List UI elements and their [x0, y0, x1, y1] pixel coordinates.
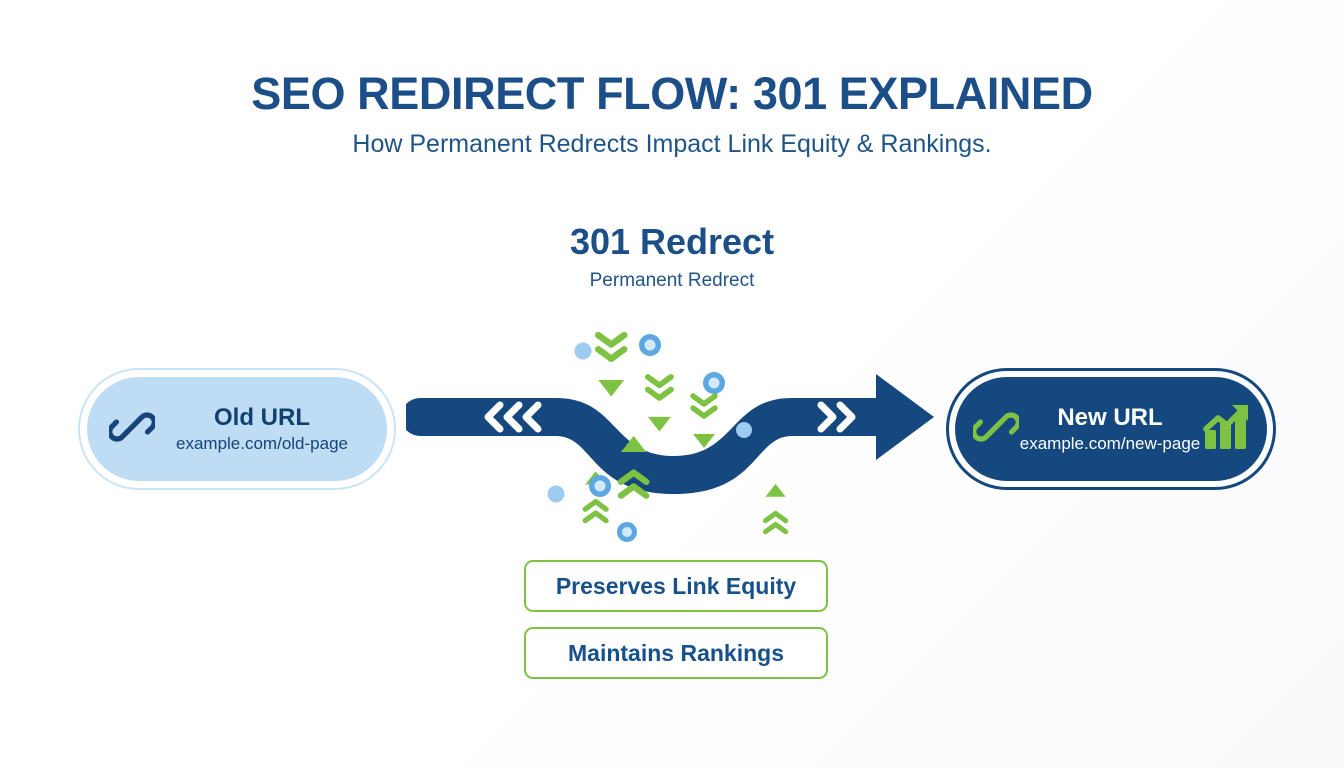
old-url-card[interactable]: Old URL example.com/old-page [78, 368, 396, 490]
new-url-card[interactable]: New URL example.com/new-page [946, 368, 1276, 490]
old-url-card-inner: Old URL example.com/old-page [87, 377, 387, 481]
redirect-type-label: Permanent Redrect [0, 271, 1344, 292]
blue-dot [575, 343, 592, 360]
redirect-code-title: 301 Redrect [0, 222, 1344, 262]
infographic-canvas: SEO REDIRECT FLOW: 301 EXPLAINED How Per… [0, 0, 1344, 768]
new-url-text: New URL example.com/new-page [1019, 405, 1201, 454]
badge-maintains-rankings[interactable]: Maintains Rankings [524, 627, 828, 679]
header: SEO REDIRECT FLOW: 301 EXPLAINED How Per… [0, 70, 1344, 159]
blue-ring-dot [617, 522, 637, 542]
chain-link-icon [973, 404, 1019, 455]
page-title: SEO REDIRECT FLOW: 301 EXPLAINED [0, 70, 1344, 117]
old-url-text: Old URL example.com/old-page [155, 405, 369, 454]
growth-chart-icon [1203, 402, 1255, 457]
badge-preserves-link-equity[interactable]: Preserves Link Equity [524, 560, 828, 612]
redirect-heading: 301 Redrect Permanent Redrect [0, 222, 1344, 291]
badge-label: Preserves Link Equity [556, 573, 796, 600]
chain-link-icon [109, 404, 155, 455]
flow-band-shape [406, 374, 934, 494]
new-url-label: New URL [1019, 405, 1201, 432]
redirect-flow-arrow [406, 360, 946, 500]
page-subtitle: How Permanent Redrects Impact Link Equit… [0, 131, 1344, 159]
new-url-value: example.com/new-page [1019, 434, 1201, 453]
blue-ring-dot [639, 334, 661, 356]
old-url-value: example.com/old-page [155, 434, 369, 453]
new-url-card-inner: New URL example.com/new-page [955, 377, 1267, 481]
old-url-label: Old URL [155, 405, 369, 432]
badge-label: Maintains Rankings [568, 640, 784, 667]
